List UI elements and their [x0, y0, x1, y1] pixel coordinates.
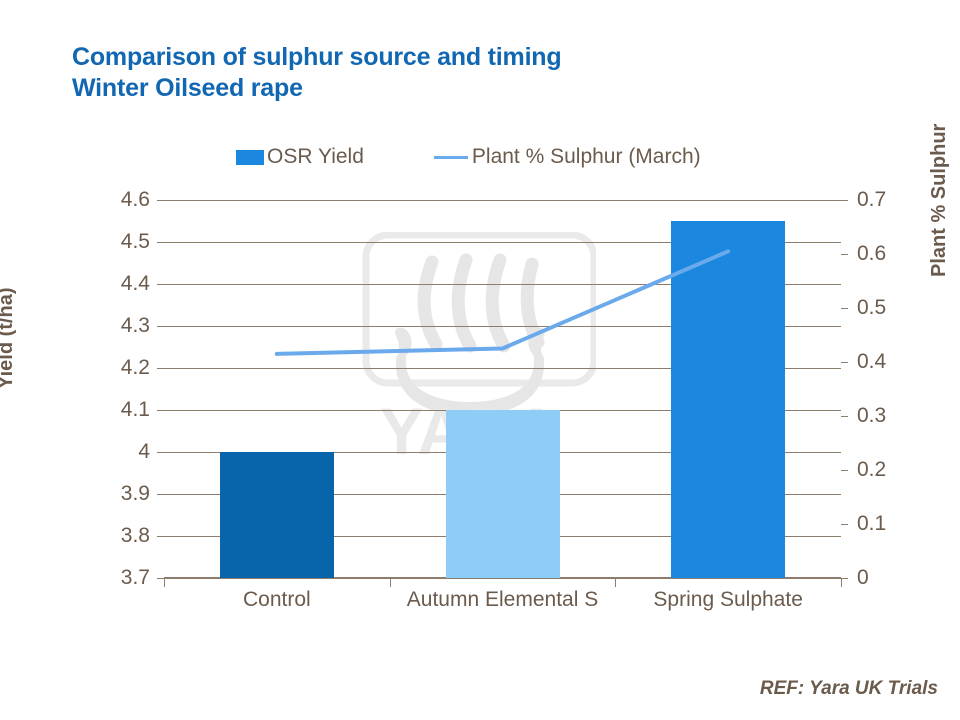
chart-legend: OSR Yield Plant % Sulphur (March) [236, 142, 701, 172]
tick-mark [157, 494, 164, 495]
tick-mark [157, 242, 164, 243]
line-series [164, 200, 841, 578]
y-axis-right-tick-label: 0.6 [857, 242, 921, 266]
y-axis-right-tick-label: 0.3 [857, 404, 921, 428]
y-axis-right-tick-label: 0 [857, 566, 921, 590]
y-axis-right-tick-label: 0.7 [857, 188, 921, 212]
y-axis-right-tick-label: 0.2 [857, 458, 921, 482]
tick-mark [841, 524, 848, 525]
x-axis-tick-label: Spring Sulphate [653, 588, 802, 612]
x-axis-separator [841, 578, 842, 587]
plot-area [164, 200, 841, 578]
legend-line-swatch-icon [434, 156, 468, 159]
tick-mark [157, 578, 164, 579]
chart-title: Comparison of sulphur source and timing … [72, 42, 832, 104]
chart-title-line-1: Comparison of sulphur source and timing [72, 43, 561, 71]
y-axis-left-ticks: 3.73.83.944.14.24.34.44.54.6 [86, 200, 150, 578]
legend-item-plant-sulphur[interactable]: Plant % Sulphur (March) [434, 145, 701, 169]
y-axis-left-tick-label: 3.9 [86, 482, 150, 506]
y-axis-left-tick-label: 4.6 [86, 188, 150, 212]
gridline [164, 578, 841, 579]
tick-mark [157, 200, 164, 201]
legend-label-plant-sulphur: Plant % Sulphur (March) [472, 145, 701, 169]
tick-mark [841, 470, 848, 471]
y-axis-right-ticks: 00.10.20.30.40.50.60.7 [857, 200, 921, 578]
x-axis-tick-label: Autumn Elemental S [407, 588, 598, 612]
y-axis-left-tick-label: 3.7 [86, 566, 150, 590]
x-axis-separator [615, 578, 616, 587]
y-axis-left-tick-label: 4.4 [86, 272, 150, 296]
tick-mark [157, 536, 164, 537]
y-axis-right-tick-label: 0.5 [857, 296, 921, 320]
y-axis-left-tick-label: 4.1 [86, 398, 150, 422]
y-axis-left-tick-label: 4.2 [86, 356, 150, 380]
tick-mark [841, 578, 848, 579]
tick-mark [841, 254, 848, 255]
tick-mark [841, 416, 848, 417]
y-axis-left-tick-label: 4 [86, 440, 150, 464]
y-axis-right-tick-label: 0.4 [857, 350, 921, 374]
y-axis-left-tick-label: 4.3 [86, 314, 150, 338]
tick-mark [157, 410, 164, 411]
chart-root: Comparison of sulphur source and timing … [0, 0, 960, 720]
y-axis-left-tick-label: 3.8 [86, 524, 150, 548]
reference-note: REF: Yara UK Trials [760, 678, 938, 700]
legend-item-osr-yield[interactable]: OSR Yield [236, 145, 364, 169]
legend-label-osr-yield: OSR Yield [267, 145, 364, 169]
tick-mark [157, 368, 164, 369]
legend-bar-swatch-icon [236, 150, 264, 165]
tick-mark [841, 308, 848, 309]
tick-mark [157, 452, 164, 453]
y-axis-left-title: Yield (t/ha) [0, 288, 18, 389]
tick-mark [157, 326, 164, 327]
tick-mark [841, 362, 848, 363]
x-axis-tick-label: Control [243, 588, 311, 612]
y-axis-right-title: Plant % Sulphur [928, 124, 951, 277]
tick-mark [841, 200, 848, 201]
x-axis-separator [164, 578, 165, 587]
x-axis-separator [390, 578, 391, 587]
y-axis-right-tick-label: 0.1 [857, 512, 921, 536]
chart-title-line-2: Winter Oilseed rape [72, 73, 832, 104]
y-axis-left-tick-label: 4.5 [86, 230, 150, 254]
x-axis-labels: ControlAutumn Elemental SSpring Sulphate [164, 588, 841, 618]
tick-mark [157, 284, 164, 285]
line-path[interactable] [277, 251, 728, 354]
